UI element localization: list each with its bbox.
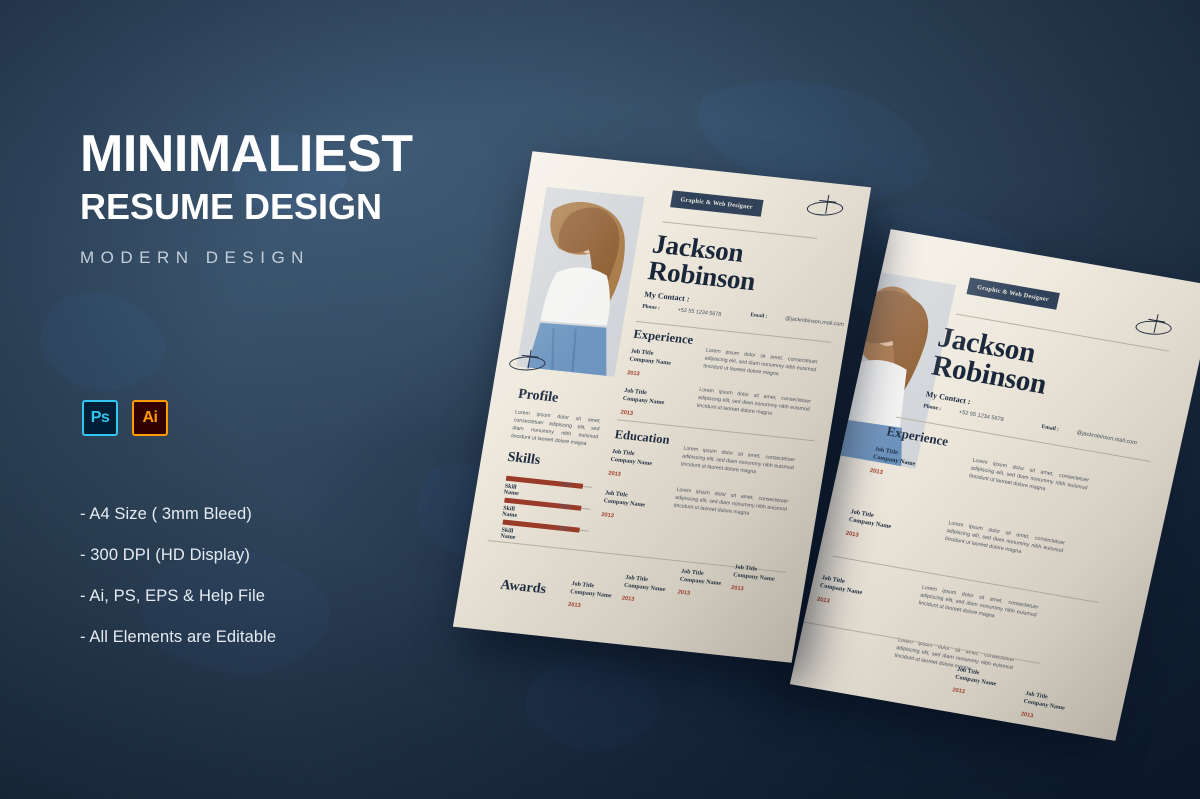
- crosshair-ornament-icon: [798, 331, 828, 359]
- award-year: 2013: [677, 589, 719, 599]
- education-entry: Job Title Company Name 2013: [816, 574, 864, 609]
- feature-item: - 300 DPI (HD Display): [80, 546, 276, 565]
- phone-value: +52 55 1234 5678: [958, 409, 1004, 423]
- award-year: 2013: [731, 585, 773, 595]
- experience-company: Company Name: [622, 395, 664, 405]
- ellipse-ornament-icon: [1132, 311, 1178, 340]
- education-entry: Job Title Company Name 2013: [601, 490, 647, 522]
- portrait-photo: [517, 187, 645, 377]
- education-company: Company Name: [603, 498, 645, 508]
- email-value: @jackrobinson.mail.com: [1076, 430, 1137, 446]
- photoshop-badge-label: Ps: [91, 409, 110, 427]
- skill-name: Skill Name: [502, 506, 519, 519]
- award-company: Company Name: [733, 572, 775, 582]
- skill-percent: 90%: [560, 504, 571, 511]
- award-entry: Job Title Company Name 2013: [621, 575, 667, 606]
- experience-description: Lorem ipsum dolor sit amet, consectetuer…: [944, 519, 1066, 563]
- section-experience-heading: Experience: [632, 327, 694, 348]
- experience-year: 2013: [845, 530, 889, 543]
- award-entry: Job Title Company Name 2013: [731, 564, 777, 595]
- education-description: Lorem ipsum dolor sit amet, consectetuer…: [917, 584, 1039, 628]
- award-entry: Job Title Company Name 2013: [1020, 691, 1067, 725]
- award-company: Company Name: [570, 589, 612, 599]
- award-company: Company Name: [679, 576, 721, 586]
- illustrator-badge: Ai: [132, 400, 168, 436]
- experience-entry: Job Title Company Name 2013: [869, 446, 917, 481]
- software-badge-group: Ps Ai: [82, 400, 168, 436]
- contact-heading: My Contact :: [644, 290, 691, 304]
- experience-entry: Job Title Company Name 2013: [845, 508, 893, 543]
- promo-stage: MINIMALIEST RESUME DESIGN MODERN DESIGN …: [0, 0, 1200, 799]
- education-description: Lorem ipsum dolor sit amet, consectetuer…: [673, 486, 789, 522]
- experience-year: 2013: [620, 410, 662, 420]
- job-role-badge: Graphic & Web Designer: [966, 277, 1059, 309]
- experience-description: Lorem ipsum dolor sit amet, consectetuer…: [696, 386, 812, 422]
- experience-year: 2013: [869, 467, 913, 480]
- education-description: Lorem ipsum dolor sit amet, consectetuer…: [680, 445, 796, 481]
- contact-phone-row: Phone : +52 55 1234 5678: [642, 304, 722, 318]
- candidate-name: Jackson Robinson: [929, 323, 1055, 399]
- skill-percent: 90%: [561, 482, 572, 489]
- promo-title-main: MINIMALIEST: [80, 128, 480, 180]
- section-education-heading: Education: [614, 427, 671, 448]
- section-profile-heading: Profile: [517, 387, 560, 407]
- ellipse-ornament-icon: [804, 193, 849, 219]
- email-label: Email :: [750, 312, 768, 320]
- ellipse-ornament-icon: [506, 348, 551, 374]
- feature-item: - All Elements are Editable: [80, 628, 276, 647]
- crosshair-ornament-icon: [484, 548, 514, 576]
- feature-item: - A4 Size ( 3mm Bleed): [80, 505, 276, 524]
- skill-percent: 90%: [558, 526, 569, 533]
- education-year: 2013: [816, 596, 860, 609]
- award-entry: Job Title Company Name 2013: [952, 667, 999, 701]
- award-year: 2013: [621, 596, 663, 606]
- profile-description: Lorem ipsum dolor sit amet, consectetuer…: [510, 408, 601, 449]
- award-entry: Job Title Company Name 2013: [677, 569, 723, 600]
- contact-email-row: Email : @jackrobinson.mail.com: [1041, 424, 1138, 446]
- email-label: Email :: [1041, 424, 1060, 433]
- award-year: 2013: [568, 602, 610, 612]
- contact-phone-row: Phone : +52 55 1234 5678: [923, 403, 1005, 423]
- experience-year: 2013: [627, 370, 669, 380]
- education-year: 2013: [601, 512, 643, 522]
- skill-name: Skill Name: [503, 484, 520, 497]
- contact-email-row: Email : @jackrobinson.mail.com: [750, 312, 844, 328]
- phone-value: +52 55 1234 5678: [677, 307, 721, 318]
- photoshop-badge: Ps: [82, 400, 118, 436]
- experience-company: Company Name: [629, 356, 671, 366]
- section-awards-heading: Awards: [499, 578, 547, 599]
- award-year: 2013: [1020, 711, 1062, 724]
- feature-list: - A4 Size ( 3mm Bleed) - 300 DPI (HD Dis…: [80, 505, 276, 669]
- award-year: 2013: [952, 687, 994, 700]
- skill-name: Skill Name: [500, 527, 517, 540]
- experience-entry: Job Title Company Name 2013: [620, 388, 666, 420]
- feature-item: - Ai, PS, EPS & Help File: [80, 587, 276, 606]
- crosshair-ornament-icon: [1107, 465, 1138, 495]
- job-role-badge: Graphic & Web Designer: [670, 190, 763, 216]
- education-company: Company Name: [610, 456, 652, 466]
- candidate-name: Jackson Robinson: [646, 231, 762, 296]
- illustrator-badge-label: Ai: [143, 409, 158, 427]
- promo-title-tagline: MODERN DESIGN: [80, 248, 480, 268]
- email-value: @jackrobinson.mail.com: [785, 316, 845, 328]
- experience-entry: Job Title Company Name 2013: [627, 348, 673, 380]
- phone-label: Phone :: [642, 304, 660, 312]
- education-entry: Job Title Company Name 2013: [608, 449, 654, 481]
- promo-heading-group: MINIMALIEST RESUME DESIGN MODERN DESIGN: [80, 128, 480, 268]
- experience-description: Lorem ipsum dolor sit amet, consectetuer…: [968, 457, 1090, 501]
- award-company: Company Name: [624, 582, 666, 592]
- award-entry: Job Title Company Name 2013: [568, 581, 614, 612]
- education-year: 2013: [608, 471, 650, 481]
- section-skills-heading: Skills: [506, 450, 541, 469]
- promo-title-sub: RESUME DESIGN: [80, 188, 480, 226]
